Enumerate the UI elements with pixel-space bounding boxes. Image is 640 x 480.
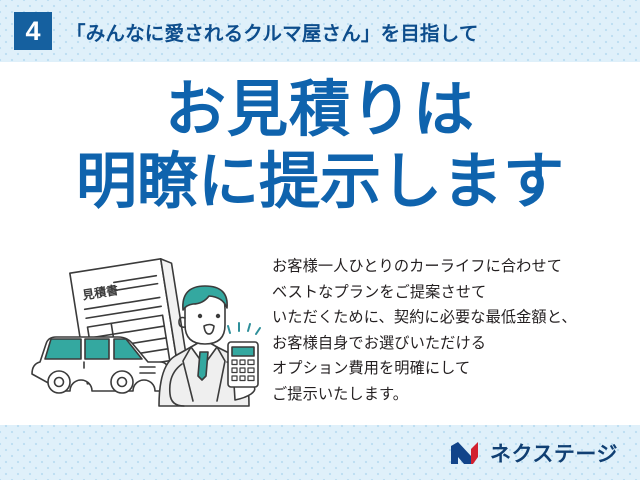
content-panel: お見積りは 明瞭に提示します お客様一人ひとりのカーライフに合わせて ベストなプ… (0, 62, 640, 425)
header-bar: 4 「みんなに愛されるクルマ屋さん」を目指して (0, 0, 640, 62)
calculator-icon (228, 342, 258, 387)
body-line: いただくために、契約に必要な最低金額と、 (272, 305, 632, 331)
footer-bar: ネクステージ (0, 425, 640, 480)
body-copy: お客様一人ひとりのカーライフに合わせて ベストなプランをご提案させて いただくた… (272, 254, 632, 407)
brand-logo[interactable]: ネクステージ (449, 438, 618, 468)
section-number-badge: 4 (14, 12, 52, 50)
body-line: ご提示いたします。 (272, 382, 632, 408)
sparkle-icon (228, 323, 260, 334)
headline-line-1: お見積りは (0, 78, 640, 140)
n-logo-icon (449, 440, 483, 466)
advertisement-banner: 4 「みんなに愛されるクルマ屋さん」を目指して お見積りは 明瞭に提示します お… (0, 0, 640, 480)
brand-name: ネクステージ (490, 438, 618, 468)
body-line: オプション費用を明確にして (272, 356, 632, 382)
sales-illustration: 見積書 (22, 254, 272, 419)
body-line: お客様一人ひとりのカーライフに合わせて (272, 254, 632, 280)
body-line: お客様自身でお選びいただける (272, 331, 632, 357)
header-title: 「みんなに愛されるクルマ屋さん」を目指して (66, 17, 479, 46)
headline-block: お見積りは 明瞭に提示します (0, 78, 640, 212)
headline-line-2: 明瞭に提示します (0, 150, 640, 212)
body-line: ベストなプランをご提案させて (272, 280, 632, 306)
